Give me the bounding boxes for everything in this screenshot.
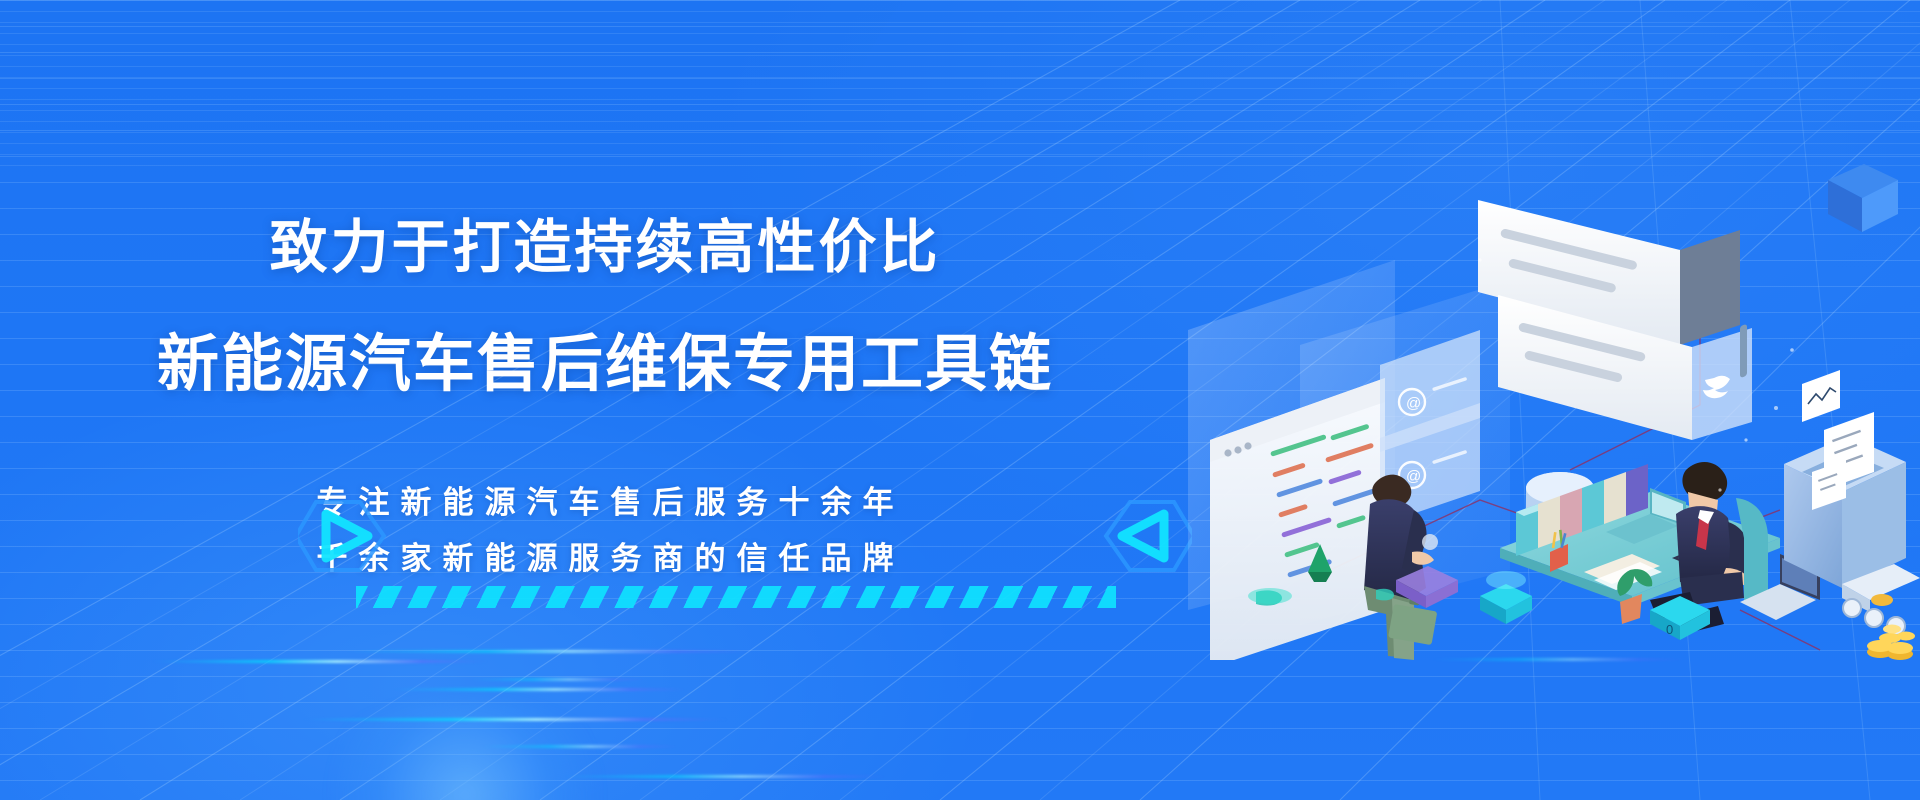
svg-text:0: 0 bbox=[1666, 622, 1673, 637]
isometric-office-illustration: @ @ bbox=[1180, 140, 1920, 660]
diagonal-stripe-bar bbox=[356, 586, 1116, 608]
svg-text:@: @ bbox=[1406, 395, 1421, 412]
play-arrow-right-icon bbox=[298, 488, 390, 584]
headline-line-1: 致力于打造持续高性价比 bbox=[0, 212, 1210, 282]
coin-printing-machine bbox=[1784, 370, 1920, 660]
floating-cube bbox=[1828, 164, 1898, 232]
headline-line-2: 新能源汽车售后维保专用工具链 bbox=[0, 325, 1210, 403]
gold-coin-stack bbox=[1867, 625, 1915, 661]
play-arrow-left-icon bbox=[1100, 488, 1192, 584]
chart-document bbox=[1802, 370, 1840, 422]
hero-banner: 致力于打造持续高性价比 新能源汽车售后维保专用工具链 专注新能源汽车售后服务十余… bbox=[0, 0, 1920, 800]
subheadline-line-1: 专注新能源汽车售后服务十余年 bbox=[0, 477, 1210, 522]
subheadline-line-2: 千余家新能源服务商的信任品牌 bbox=[0, 533, 1210, 578]
hero-text-block: 致力于打造持续高性价比 新能源汽车售后维保专用工具链 专注新能源汽车售后服务十余… bbox=[0, 0, 1210, 800]
svg-text:@: @ bbox=[1406, 468, 1421, 485]
